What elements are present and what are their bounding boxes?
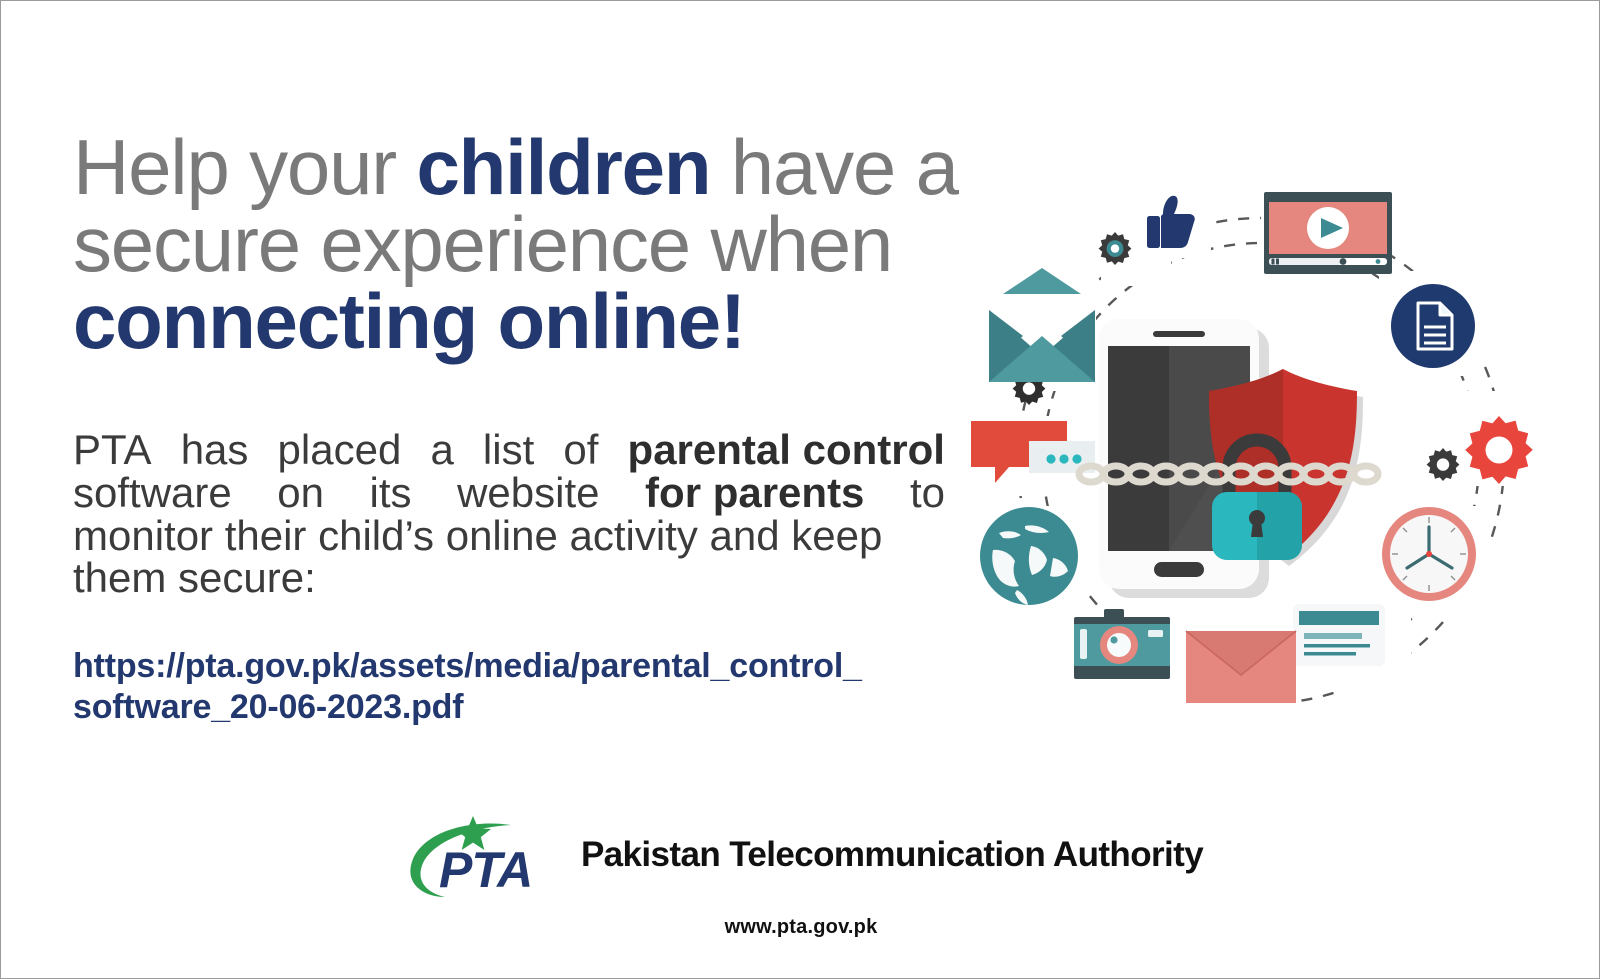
pdf-link[interactable]: https://pta.gov.pk/assets/media/parental… xyxy=(73,646,953,729)
headline-text-plain-2: have a xyxy=(710,123,957,211)
page-title: Help your children have a secure experie… xyxy=(73,129,953,361)
body-word: to xyxy=(910,472,945,515)
organization-name: Pakistan Telecommunication Authority xyxy=(581,837,1203,876)
pta-logo-icon: PTA xyxy=(399,813,567,899)
video-player-icon xyxy=(1264,192,1392,274)
body-word: software xyxy=(73,472,232,515)
svg-text:PTA: PTA xyxy=(439,842,532,898)
headline-line-1: Help your children have a xyxy=(73,129,953,206)
body-word: PTA xyxy=(73,429,152,472)
online-security-illustration xyxy=(961,176,1561,746)
pdf-link-line-2[interactable]: software_20-06-2023.pdf xyxy=(73,687,953,728)
headline-line-2: secure experience when xyxy=(73,206,953,283)
body-paragraph: PTA has placed a list of parental contro… xyxy=(73,429,945,600)
footer-logo-row: PTA Pakistan Telecommunication Authority xyxy=(399,813,1203,899)
body-line-4: them secure: xyxy=(73,557,945,600)
footer: PTA Pakistan Telecommunication Authority… xyxy=(1,813,1600,939)
camera-icon xyxy=(1074,609,1170,679)
body-emphasis-1: parental control xyxy=(628,429,945,472)
body-word: placed xyxy=(278,429,402,472)
body-word: website xyxy=(457,472,599,515)
globe-icon xyxy=(980,507,1078,605)
headline-line-3: connecting online! xyxy=(73,283,953,360)
document-circle-icon xyxy=(1391,284,1475,368)
body-word: has xyxy=(181,429,249,472)
browser-card-icon xyxy=(1293,604,1385,666)
headline-text-plain-1: Help your xyxy=(73,123,417,211)
body-word: on xyxy=(277,472,324,515)
pdf-link-line-1[interactable]: https://pta.gov.pk/assets/media/parental… xyxy=(73,646,953,687)
footer-website: www.pta.gov.pk xyxy=(1,916,1600,939)
body-line-3: monitor their child’s online activity an… xyxy=(73,515,945,558)
body-word: a xyxy=(430,429,453,472)
padlock-icon xyxy=(1212,492,1302,560)
body-word: list xyxy=(483,429,534,472)
headline-text-highlight-1: children xyxy=(417,123,711,211)
body-line-1: PTA has placed a list of parental contro… xyxy=(73,429,945,472)
envelope-closed-icon xyxy=(1186,631,1296,703)
body-line-2: software on its website for parents to xyxy=(73,472,945,515)
body-word: of xyxy=(563,429,598,472)
body-emphasis-2: for parents xyxy=(645,472,864,515)
clock-icon xyxy=(1382,507,1476,601)
poster-canvas: Help your children have a secure experie… xyxy=(0,0,1600,979)
body-word: its xyxy=(370,472,412,515)
